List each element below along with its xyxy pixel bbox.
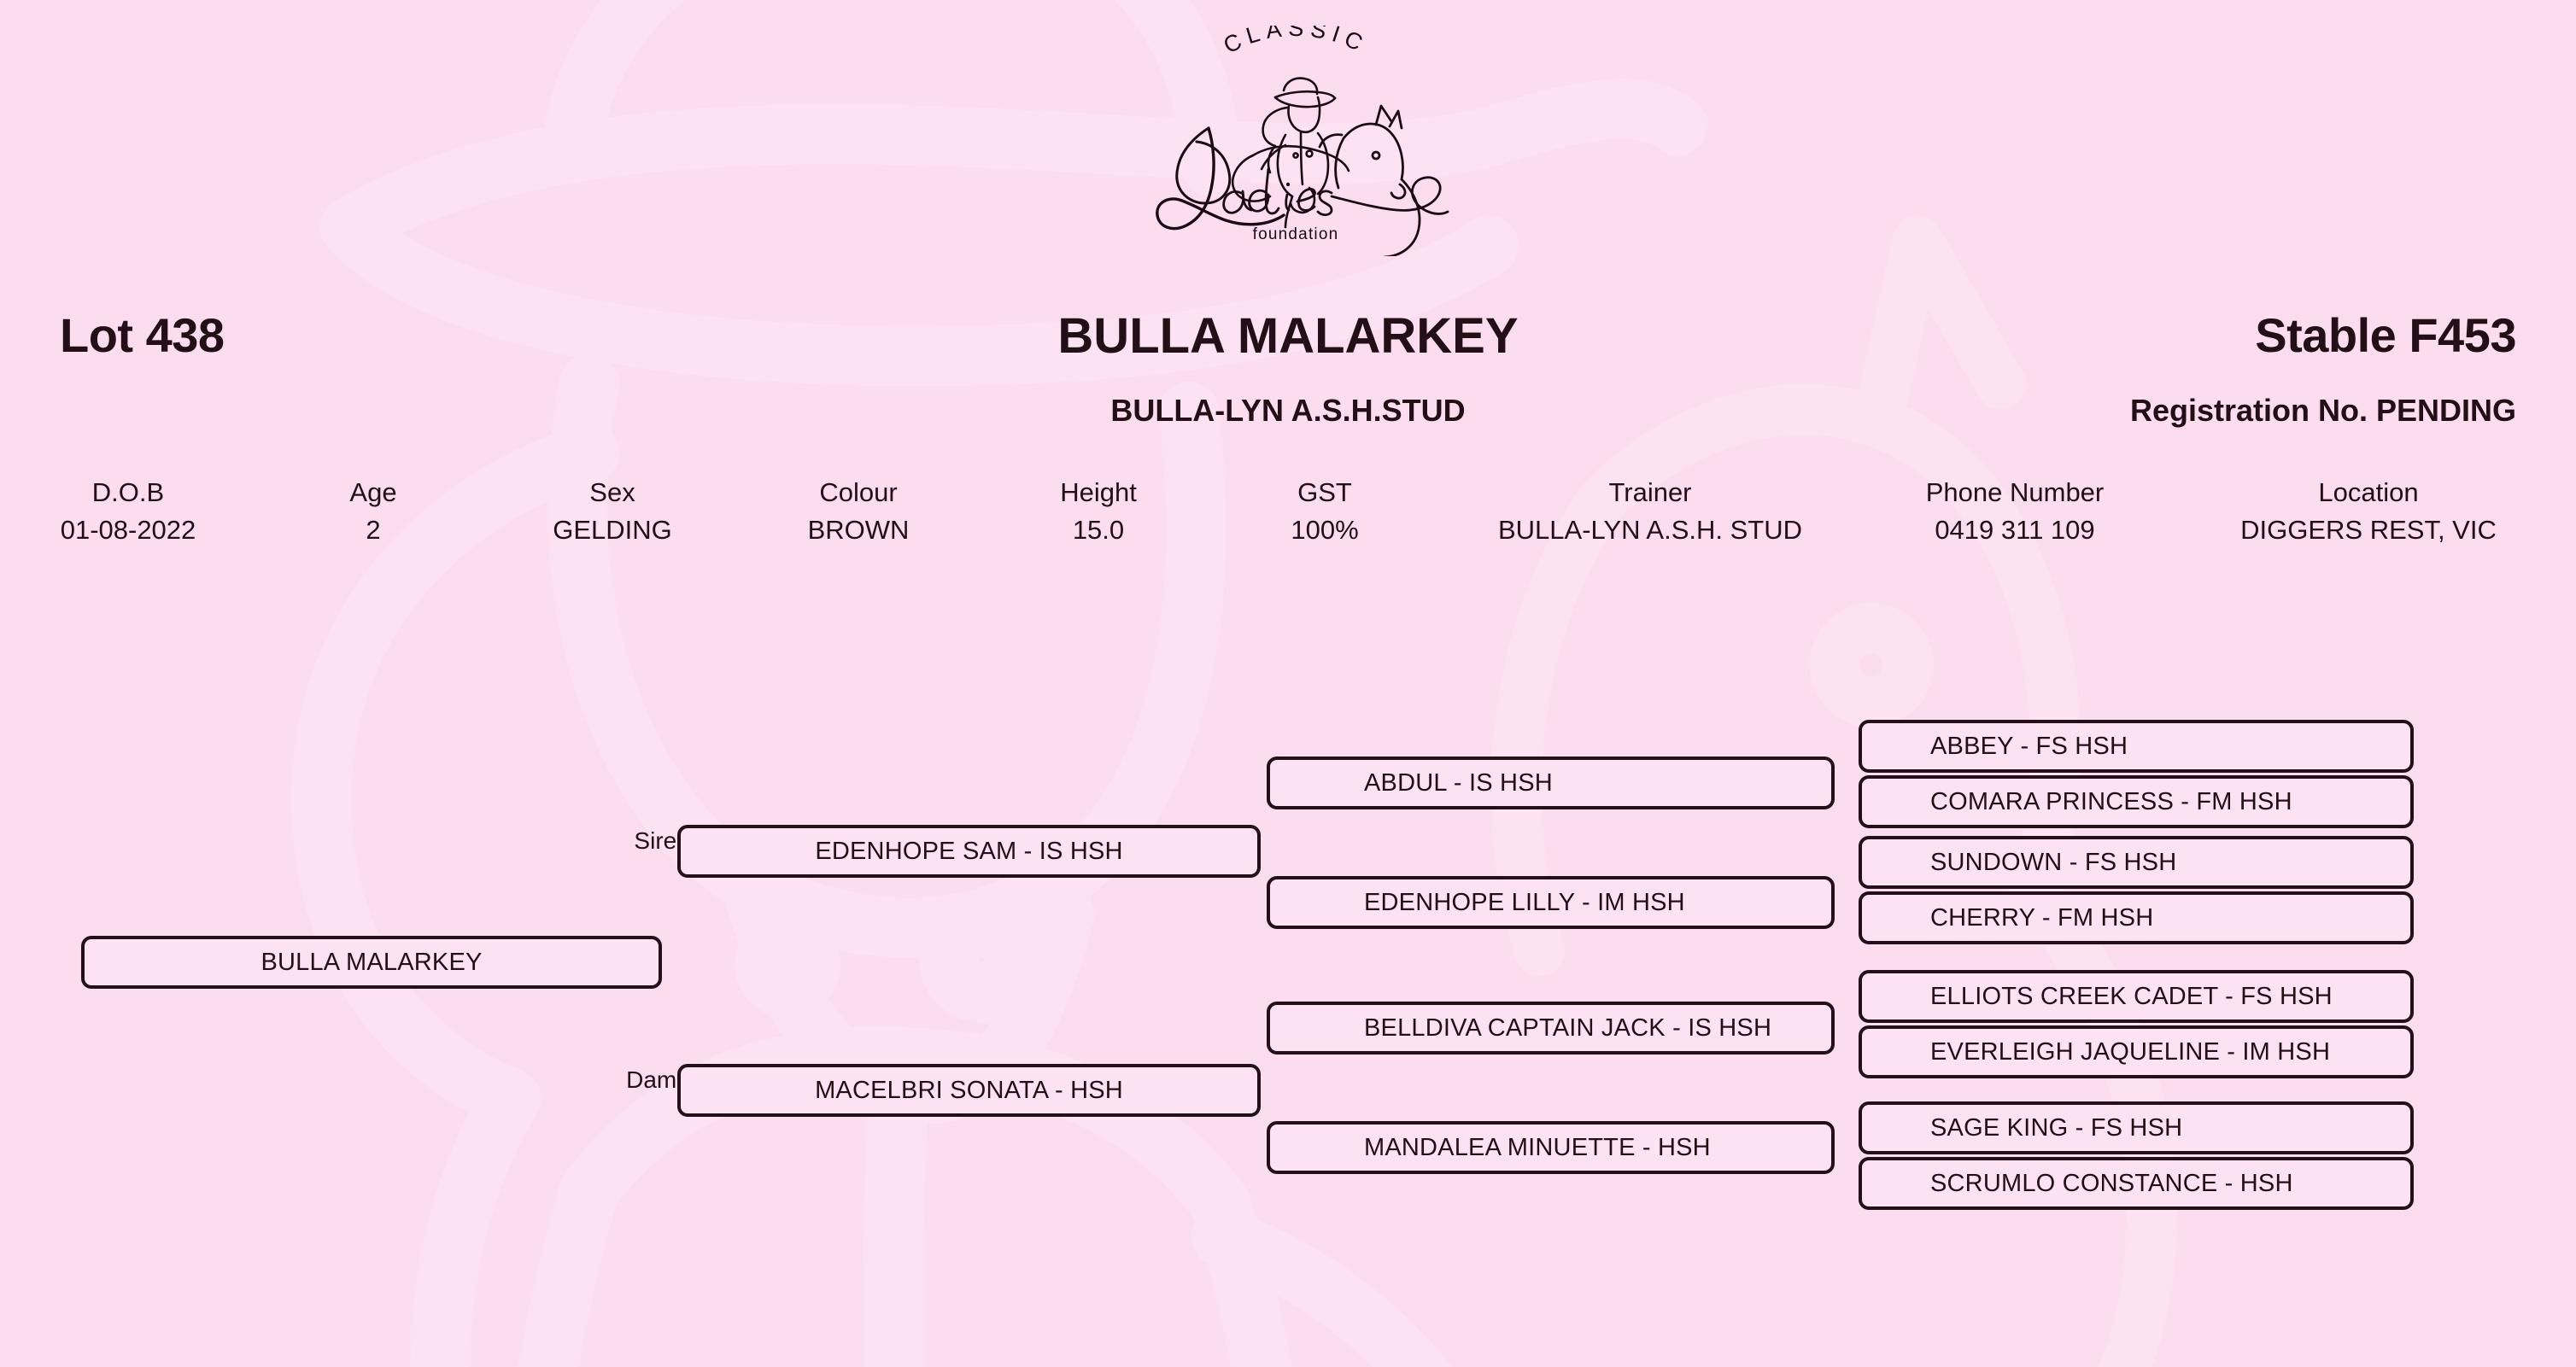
pedigree-box-grandparent: EDENHOPE LILLY - IM HSH [1267, 876, 1835, 929]
pedigree-box-great-grandparent: ELLIOTS CREEK CADET - FS HSH [1859, 970, 2414, 1023]
pedigree-page: CLASSIC [0, 0, 2576, 1367]
pedigree-box-grandparent: BELLDIVA CAPTAIN JACK - IS HSH [1267, 1002, 1835, 1054]
pedigree-box-great-grandparent: SUNDOWN - FS HSH [1859, 836, 2414, 889]
pedigree-box-great-grandparent: COMARA PRINCESS - FM HSH [1859, 775, 2414, 828]
sire-label: Sire: [598, 827, 683, 855]
pedigree-box-great-grandparent: SAGE KING - FS HSH [1859, 1101, 2414, 1154]
pedigree-box-great-grandparent: EVERLEIGH JAQUELINE - IM HSH [1859, 1025, 2414, 1078]
pedigree-box-great-grandparent: CHERRY - FM HSH [1859, 891, 2414, 944]
pedigree-box-dam: MACELBRI SONATA - HSH [677, 1064, 1261, 1117]
pedigree-box-sire: EDENHOPE SAM - IS HSH [677, 825, 1261, 878]
pedigree-box-subject: BULLA MALARKEY [81, 936, 662, 989]
pedigree-box-grandparent: ABDUL - IS HSH [1267, 757, 1835, 809]
pedigree-box-great-grandparent: ABBEY - FS HSH [1859, 720, 2414, 773]
pedigree-box-great-grandparent: SCRUMLO CONSTANCE - HSH [1859, 1157, 2414, 1210]
dam-label: Dam: [598, 1066, 683, 1094]
pedigree-tree: Sire: Dam: BULLA MALARKEYEDENHOPE SAM - … [0, 0, 2576, 1367]
pedigree-box-grandparent: MANDALEA MINUETTE - HSH [1267, 1121, 1835, 1174]
